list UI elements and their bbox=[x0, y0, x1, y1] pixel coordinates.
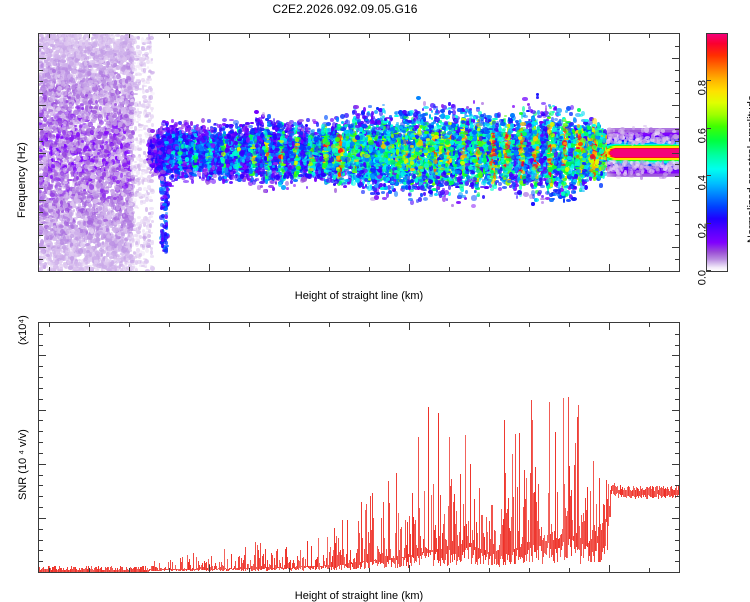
snr-y-axis-label: SNR (10 ⁴ v/v) bbox=[17, 429, 29, 500]
colorbar-tick-label: 0.8 bbox=[696, 80, 708, 95]
snr-x-axis-label: Height of straight line (km) bbox=[295, 590, 423, 602]
colorbar-ticks: 0.00.20.40.60.8 bbox=[706, 33, 728, 272]
snr-y-exponent-label: (x10⁴) bbox=[17, 315, 29, 345]
colorbar-tick-label: 0.4 bbox=[696, 175, 708, 190]
spectrogram-x-axis-label: Height of straight line (km) bbox=[295, 290, 423, 302]
spectrogram-y-axis-label: Frequency (Hz) bbox=[16, 142, 28, 218]
colorbar-tick-label: 0.6 bbox=[696, 128, 708, 143]
colorbar-tick-label: 0.2 bbox=[696, 223, 708, 238]
colorbar-tick-label: 0.0 bbox=[696, 270, 708, 285]
figure-root: C2E2.2026.092.09.05.G16 40200-20-40 -100… bbox=[0, 0, 750, 600]
snr-trace bbox=[39, 323, 679, 572]
colorbar-label: Normalized spectral amplitude bbox=[746, 95, 750, 243]
figure-title: C2E2.2026.092.09.05.G16 bbox=[0, 2, 690, 16]
spectrogram-panel: 40200-20-40 -1000100 bbox=[38, 33, 680, 272]
spectrogram-image bbox=[39, 34, 679, 271]
snr-panel: 0.51.01.52.0 -1000100 bbox=[38, 322, 680, 573]
